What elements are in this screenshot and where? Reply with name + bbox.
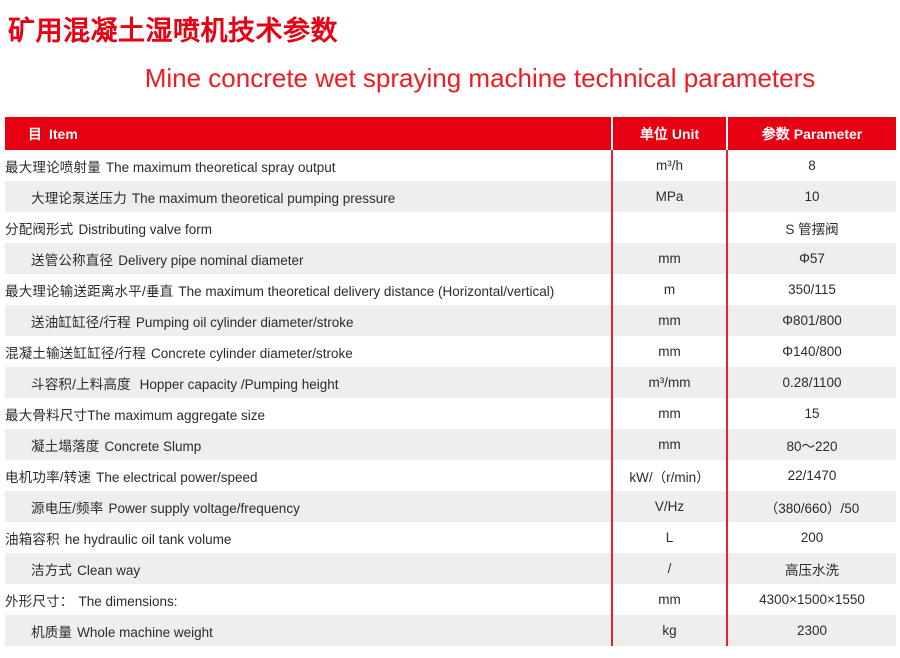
table-row: 凝土塌落度Concrete Slumpmm80～220 [5, 429, 896, 460]
cell-unit: m [612, 274, 727, 305]
table-row: 洁方式Clean way/高压水洗 [5, 553, 896, 584]
cell-unit: L [612, 522, 727, 553]
cell-parameter: Φ801/800 [727, 305, 896, 336]
cell-item: 最大理论喷射量The maximum theoretical spray out… [5, 150, 612, 181]
specifications-table-wrapper: 目Item 单位Unit 参数Parameter 最大理论喷射量The maxi… [5, 117, 896, 646]
column-header-item-cn: 目 [28, 126, 42, 142]
cell-item: 最大理论输送距离水平/垂直The maximum theoretical del… [5, 274, 612, 305]
cell-item-cn: 分配阀形式 [5, 222, 74, 237]
cell-item-cn: 凝土塌落度 [31, 439, 100, 454]
table-row: 混凝土输送缸缸径/行程Concrete cylinder diameter/st… [5, 336, 896, 367]
cell-parameter: 2300 [727, 615, 896, 646]
table-row: 电机功率/转速The electrical power/speedkW/（r/m… [5, 460, 896, 491]
cell-item-en: The maximum theoretical spray output [106, 160, 336, 175]
cell-unit [612, 212, 727, 243]
cell-parameter: S 管摆阀 [727, 212, 896, 243]
table-row: 送管公称直径Delivery pipe nominal diametermmΦ5… [5, 243, 896, 274]
cell-item-cn: 最大理论喷射量 [5, 160, 101, 175]
cell-unit: MPa [612, 181, 727, 212]
cell-unit: mm [612, 429, 727, 460]
cell-parameter: 10 [727, 181, 896, 212]
cell-unit: mm [612, 398, 727, 429]
cell-parameter: 22/1470 [727, 460, 896, 491]
cell-item: 油箱容积he hydraulic oil tank volume [5, 522, 612, 553]
table-row: 最大理论喷射量The maximum theoretical spray out… [5, 150, 896, 181]
column-header-parameter: 参数Parameter [727, 117, 896, 150]
cell-unit: kg [612, 615, 727, 646]
cell-item-cn: 油箱容积 [5, 532, 60, 547]
cell-item: 斗容积/上料高度 Hopper capacity /Pumping height [5, 367, 612, 398]
cell-unit: kW/（r/min） [612, 460, 727, 491]
cell-parameter: 8 [727, 150, 896, 181]
table-header: 目Item 单位Unit 参数Parameter [5, 117, 896, 150]
cell-parameter: 15 [727, 398, 896, 429]
cell-item-en: Whole machine weight [77, 625, 213, 640]
cell-item-en: The maximum theoretical delivery distanc… [178, 284, 554, 299]
cell-parameter: 4300×1500×1550 [727, 584, 896, 615]
cell-unit: mm [612, 336, 727, 367]
table-row: 最大理论输送距离水平/垂直The maximum theoretical del… [5, 274, 896, 305]
cell-item-en: The electrical power/speed [96, 470, 257, 485]
cell-item: 洁方式Clean way [5, 553, 612, 584]
cell-item-en: The maximum theoretical pumping pressure [132, 191, 395, 206]
cell-item-en: he hydraulic oil tank volume [65, 532, 232, 547]
column-header-unit: 单位Unit [612, 117, 727, 150]
cell-item-cn: 最大理论输送距离水平/垂直 [5, 284, 173, 299]
table-row: 送油缸缸径/行程Pumping oil cylinder diameter/st… [5, 305, 896, 336]
cell-item: 源电压/频率Power supply voltage/frequency [5, 491, 612, 522]
table-row: 分配阀形式Distributing valve formS 管摆阀 [5, 212, 896, 243]
cell-item-cn: 机质量 [31, 625, 72, 640]
table-row: 油箱容积he hydraulic oil tank volumeL200 [5, 522, 896, 553]
cell-parameter: 高压水洗 [727, 553, 896, 584]
cell-item-cn: 源电压/频率 [31, 501, 103, 516]
cell-unit: mm [612, 305, 727, 336]
cell-item-en: The maximum aggregate size [87, 408, 265, 423]
column-header-unit-en: Unit [672, 126, 699, 142]
cell-parameter: 200 [727, 522, 896, 553]
cell-item: 最大骨料尺寸The maximum aggregate size [5, 398, 612, 429]
cell-item: 大理论泵送压力The maximum theoretical pumping p… [5, 181, 612, 212]
cell-unit: mm [612, 584, 727, 615]
cell-item-en: Delivery pipe nominal diameter [118, 253, 303, 268]
cell-item: 混凝土输送缸缸径/行程Concrete cylinder diameter/st… [5, 336, 612, 367]
table-row: 斗容积/上料高度 Hopper capacity /Pumping height… [5, 367, 896, 398]
cell-item-en: Hopper capacity /Pumping height [136, 377, 339, 392]
cell-item-en: Clean way [77, 563, 140, 578]
cell-item-en: Distributing valve form [79, 222, 213, 237]
table-row: 源电压/频率Power supply voltage/frequencyV/Hz… [5, 491, 896, 522]
cell-item: 凝土塌落度Concrete Slump [5, 429, 612, 460]
column-header-parameter-cn: 参数 [762, 126, 790, 142]
table-row: 最大骨料尺寸The maximum aggregate sizemm15 [5, 398, 896, 429]
cell-parameter: Φ57 [727, 243, 896, 274]
cell-parameter: 0.28/1100 [727, 367, 896, 398]
cell-item-cn: 送油缸缸径/行程 [31, 315, 131, 330]
cell-item-en: Concrete cylinder diameter/stroke [151, 346, 353, 361]
cell-item-cn: 斗容积/上料高度 [31, 377, 131, 392]
page-title-english: Mine concrete wet spraying machine techn… [0, 62, 900, 94]
cell-item-cn: 洁方式 [31, 563, 72, 578]
cell-item: 送管公称直径Delivery pipe nominal diameter [5, 243, 612, 274]
column-header-item: 目Item [5, 117, 612, 150]
cell-item-cn: 外形尺寸： [5, 594, 74, 609]
cell-parameter: 350/115 [727, 274, 896, 305]
cell-item: 机质量Whole machine weight [5, 615, 612, 646]
cell-parameter: Φ140/800 [727, 336, 896, 367]
cell-parameter: （380/660）/50 [727, 491, 896, 522]
cell-item-cn: 电机功率/转速 [5, 470, 91, 485]
cell-item-en: Power supply voltage/frequency [108, 501, 299, 516]
cell-unit: m³/h [612, 150, 727, 181]
cell-item-cn: 最大骨料尺寸 [5, 408, 87, 423]
cell-item: 电机功率/转速The electrical power/speed [5, 460, 612, 491]
cell-item-cn: 大理论泵送压力 [31, 191, 127, 206]
page-title-chinese: 矿用混凝土湿喷机技术参数 [8, 14, 338, 48]
cell-unit: mm [612, 243, 727, 274]
cell-item: 分配阀形式Distributing valve form [5, 212, 612, 243]
cell-unit: / [612, 553, 727, 584]
table-header-row: 目Item 单位Unit 参数Parameter [5, 117, 896, 150]
cell-item-en: Pumping oil cylinder diameter/stroke [136, 315, 354, 330]
table-row: 大理论泵送压力The maximum theoretical pumping p… [5, 181, 896, 212]
table-row: 机质量Whole machine weightkg2300 [5, 615, 896, 646]
cell-parameter: 80～220 [727, 429, 896, 460]
cell-item-cn: 送管公称直径 [31, 253, 113, 268]
spec-sheet-page: 矿用混凝土湿喷机技术参数 Mine concrete wet spraying … [0, 0, 900, 658]
cell-item-en: Concrete Slump [105, 439, 202, 454]
table-row: 外形尺寸：The dimensions:mm4300×1500×1550 [5, 584, 896, 615]
cell-item-cn: 混凝土输送缸缸径/行程 [5, 346, 146, 361]
column-header-unit-cn: 单位 [640, 126, 668, 142]
table-body: 最大理论喷射量The maximum theoretical spray out… [5, 150, 896, 646]
cell-item-en: The dimensions: [79, 594, 178, 609]
cell-item: 外形尺寸：The dimensions: [5, 584, 612, 615]
cell-item: 送油缸缸径/行程Pumping oil cylinder diameter/st… [5, 305, 612, 336]
specifications-table: 目Item 单位Unit 参数Parameter 最大理论喷射量The maxi… [5, 117, 896, 646]
column-header-parameter-en: Parameter [794, 126, 863, 142]
cell-unit: m³/mm [612, 367, 727, 398]
column-header-item-en: Item [49, 126, 78, 142]
cell-unit: V/Hz [612, 491, 727, 522]
